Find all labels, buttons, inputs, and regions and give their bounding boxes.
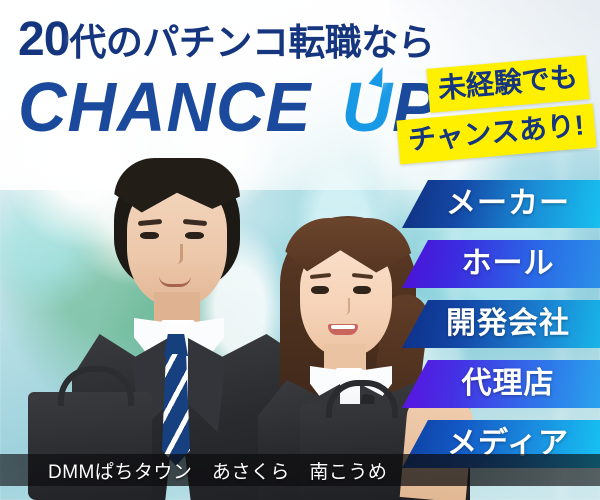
badge-line-1: 未経験でも [426,55,589,113]
category-bar-hall[interactable]: ホール [402,240,600,288]
headline-primary: 20代のパチンコ転職なら [18,16,434,64]
category-label: 開発会社 [426,309,570,339]
headline-middle-text: 代のパチンコ転職 [69,22,361,63]
female-eye-left [311,286,329,294]
category-label: 代理店 [442,369,555,399]
male-necktie-knot [164,334,188,356]
category-label: メーカー [426,189,570,219]
category-bar-agency[interactable]: 代理店 [402,360,600,408]
male-eye-right [185,232,204,239]
logo-chance-text: CHANCE [18,72,311,142]
badge-line-2: チャンスあり! [396,104,596,165]
female-nose [340,298,350,315]
female-eye-right [353,286,371,294]
category-label: ホール [442,249,555,279]
headline-suffix-text: なら [361,22,434,63]
headline-age-number: 20 [18,13,69,66]
male-striped-necktie [162,354,190,466]
category-bar-developer[interactable]: 開発会社 [402,300,600,348]
caption-text: DMMぱちタウン あさくら 南こうめ [0,457,387,484]
advertisement-banner[interactable]: 20代のパチンコ転職なら CHANCE U P 未経験でも チャンスあり! メー… [0,0,600,500]
category-list: メーカー ホール 開発会社 代理店 メディア [388,180,600,468]
yellow-callout-badge: 未経験でも チャンスあり! [398,62,594,156]
male-nose [170,244,183,264]
male-eye-left [140,232,159,239]
category-bar-maker[interactable]: メーカー [402,180,600,228]
female-smile [328,324,358,335]
logo-u-letter: U [341,72,392,142]
caption-band: DMMぱちタウン あさくら 南こうめ [0,454,600,486]
chance-up-logo: CHANCE U P [18,72,439,148]
